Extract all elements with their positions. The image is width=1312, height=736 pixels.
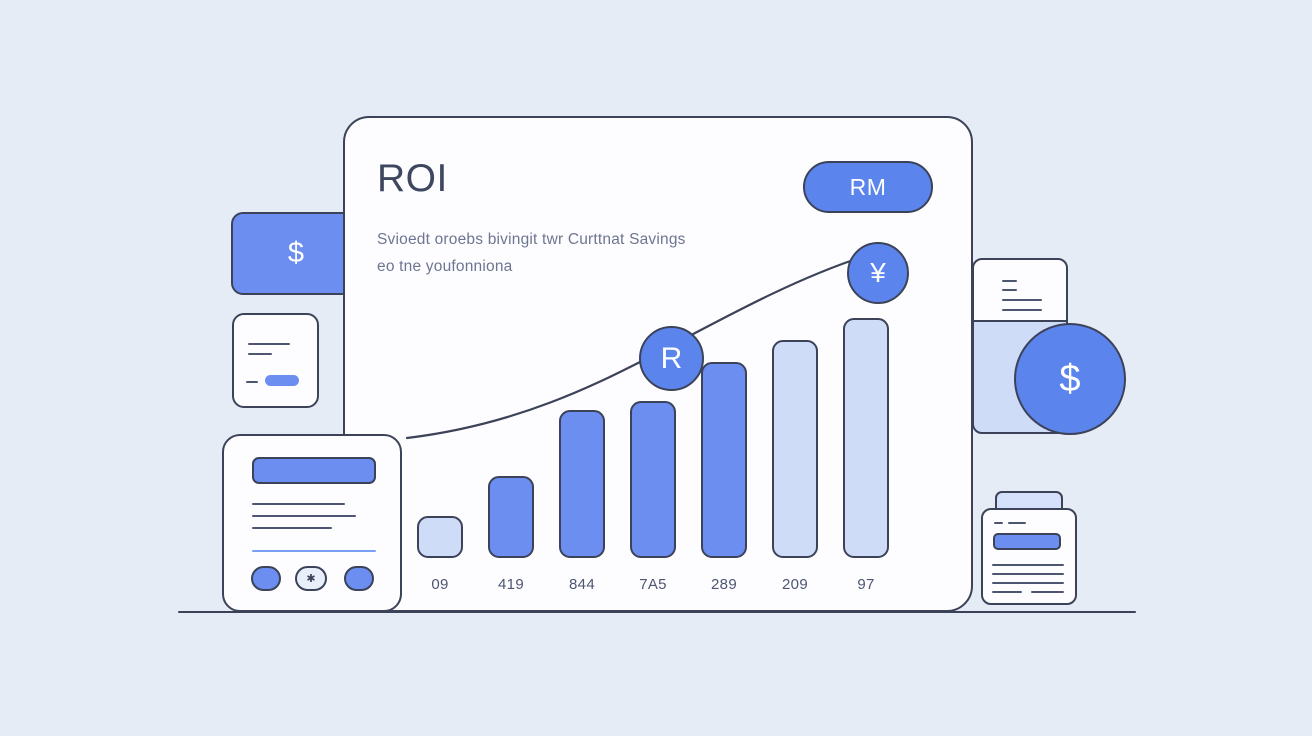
document-line-1 <box>992 564 1064 566</box>
split-card-line-1 <box>1002 280 1017 282</box>
bar-label-97: 97 <box>831 576 901 593</box>
document-line-2 <box>992 573 1064 575</box>
trend-marker-yen-label: ¥ <box>870 257 886 289</box>
dollar-symbol: $ <box>288 237 304 270</box>
note-chip <box>265 375 299 386</box>
dollar-tab-icon: $ <box>231 212 361 295</box>
split-card-line-4 <box>1002 309 1042 311</box>
document-dash-2 <box>1008 522 1026 524</box>
form-card: ✱ <box>222 434 402 612</box>
bar-844[interactable] <box>559 410 605 558</box>
bar-label-209: 209 <box>760 576 830 593</box>
document-line-3 <box>992 582 1064 584</box>
dashboard-card: ROI Svioedt oroebs bivingit twr Curttnat… <box>343 116 973 612</box>
ground-baseline <box>178 611 1136 613</box>
bar-209[interactable] <box>772 340 818 558</box>
bar-09[interactable] <box>417 516 463 558</box>
bar-label-419: 419 <box>476 576 546 593</box>
document-dash-1 <box>994 522 1003 524</box>
form-card-button-right[interactable] <box>344 566 374 591</box>
bar-419[interactable] <box>488 476 534 558</box>
split-card-top <box>972 258 1068 322</box>
form-card-line-1 <box>252 503 345 505</box>
document-highlight-bar <box>993 533 1061 550</box>
note-card <box>232 313 319 408</box>
note-line-2 <box>248 353 272 355</box>
illustration-scene: $ ROI Svioedt oroebs bivingit twr Curttn… <box>0 0 1312 736</box>
form-card-divider <box>252 550 376 552</box>
form-card-button-left[interactable] <box>251 566 281 591</box>
form-card-button-center[interactable]: ✱ <box>295 566 327 591</box>
bar-97[interactable] <box>843 318 889 558</box>
bar-289[interactable] <box>701 362 747 558</box>
bar-label-289: 289 <box>689 576 759 593</box>
asterisk-icon: ✱ <box>306 572 315 585</box>
form-card-line-3 <box>252 527 332 529</box>
bar-label-09: 09 <box>405 576 475 593</box>
bar-7A5[interactable] <box>630 401 676 558</box>
bar-label-7A5: 7A5 <box>618 576 688 593</box>
note-line-3 <box>246 381 258 383</box>
dollar-circle-icon: $ <box>1014 323 1126 435</box>
form-card-line-2 <box>252 515 356 517</box>
bar-label-844: 844 <box>547 576 617 593</box>
trend-marker-r-label: R <box>661 342 683 376</box>
trend-marker-yen-icon[interactable]: ¥ <box>847 242 909 304</box>
trend-marker-r-icon[interactable]: R <box>639 326 704 391</box>
split-card-line-3 <box>1002 299 1042 301</box>
dollar-circle-symbol: $ <box>1059 358 1080 401</box>
document-card <box>981 508 1077 605</box>
form-card-header-bar <box>252 457 376 484</box>
split-card-line-2 <box>1002 289 1017 291</box>
note-line-1 <box>248 343 290 345</box>
document-line-5 <box>1031 591 1064 593</box>
document-line-4 <box>992 591 1022 593</box>
